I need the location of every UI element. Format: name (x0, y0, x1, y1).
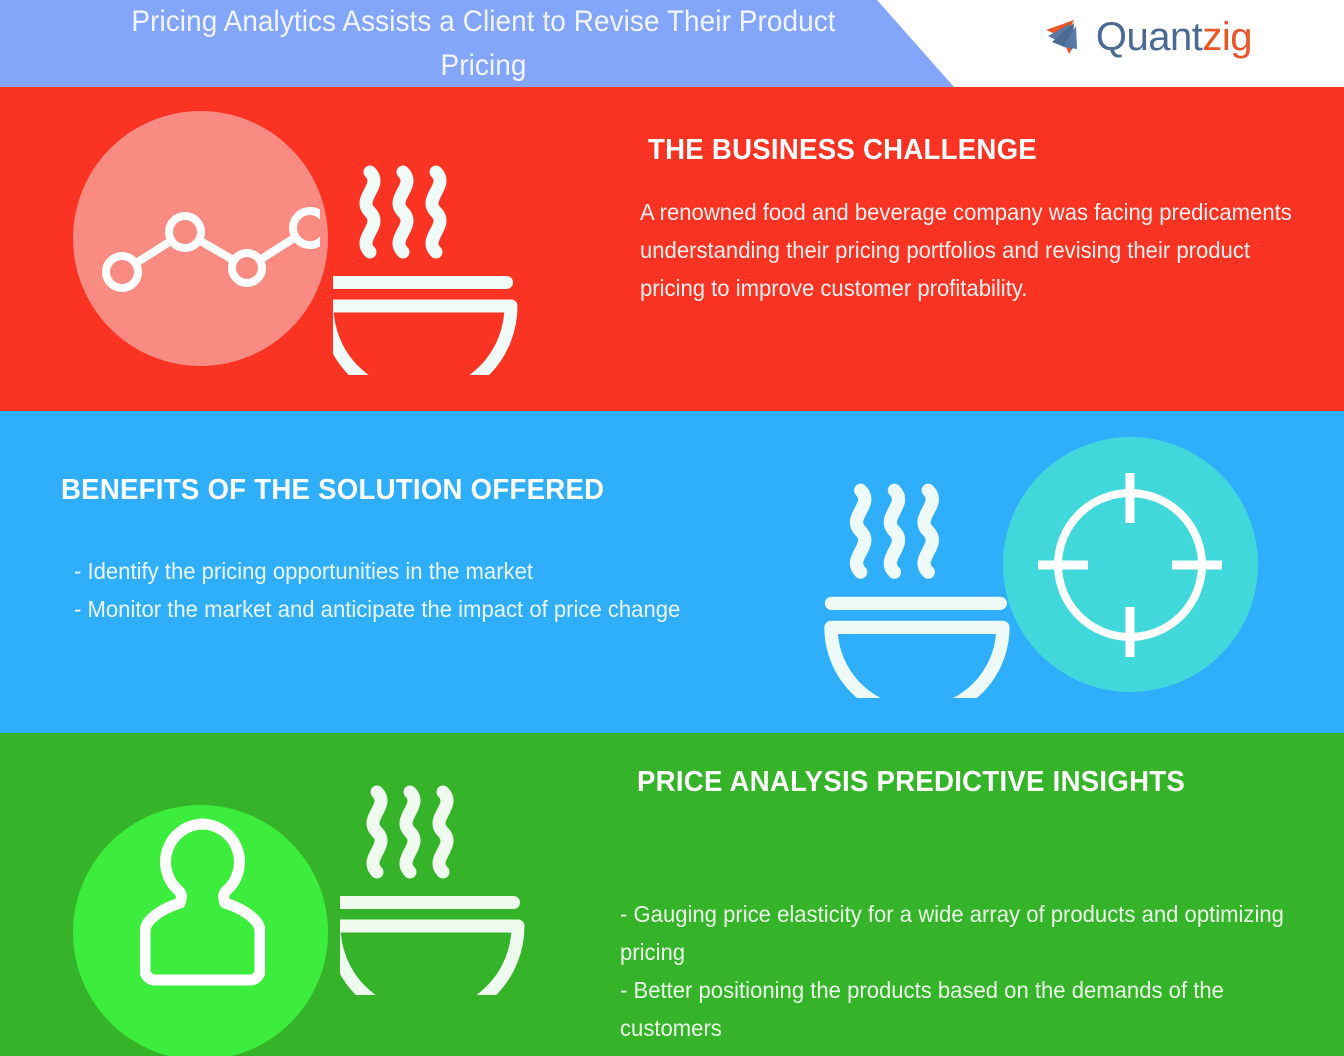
user-person-icon (140, 812, 265, 987)
page-title: Pricing Analytics Assists a Client to Re… (91, 0, 863, 88)
crosshair-target-icon (1030, 465, 1230, 665)
section-heading-challenge: THE BUSINESS CHALLENGE (648, 133, 1037, 167)
logo-text-zig: zig (1202, 15, 1252, 59)
insights-heading-wrap: PRICE ANALYSIS PREDICTIVE INSIGHTS (637, 765, 1214, 799)
line-chart-icon (95, 190, 320, 295)
quantzig-logo: Quantzig (1044, 16, 1252, 58)
steaming-bowl-icon (333, 160, 523, 375)
benefits-bullet-1: - Identify the pricing opportunities in … (74, 552, 727, 590)
logo-wordmark: Quantzig (1096, 16, 1252, 58)
steaming-bowl-icon (340, 780, 530, 995)
challenge-heading-wrap: THE BUSINESS CHALLENGE (648, 133, 1057, 167)
benefits-body-wrap: - Identify the pricing opportunities in … (74, 552, 754, 628)
section-heading-insights: PRICE ANALYSIS PREDICTIVE INSIGHTS (637, 765, 1185, 799)
benefits-heading-wrap: BENEFITS OF THE SOLUTION OFFERED (61, 473, 633, 507)
challenge-body-wrap: A renowned food and beverage company was… (640, 193, 1340, 307)
header-banner: Pricing Analytics Assists a Client to Re… (0, 0, 954, 87)
section-heading-benefits: BENEFITS OF THE SOLUTION OFFERED (61, 473, 604, 507)
benefits-bullet-2: - Monitor the market and anticipate the … (74, 590, 727, 628)
insights-bullet-1: - Gauging price elasticity for a wide ar… (620, 895, 1292, 971)
insights-body-wrap: - Gauging price elasticity for a wide ar… (620, 895, 1320, 1047)
quantzig-arrow-fan-icon (1044, 16, 1090, 58)
insights-bullet-2: - Better positioning the products based … (620, 971, 1292, 1047)
infographic-page: Pricing Analytics Assists a Client to Re… (0, 0, 1344, 1056)
section-body-challenge: A renowned food and beverage company was… (640, 193, 1312, 307)
logo-text-quant: Quant (1096, 15, 1202, 59)
steaming-bowl-icon (820, 478, 1020, 698)
